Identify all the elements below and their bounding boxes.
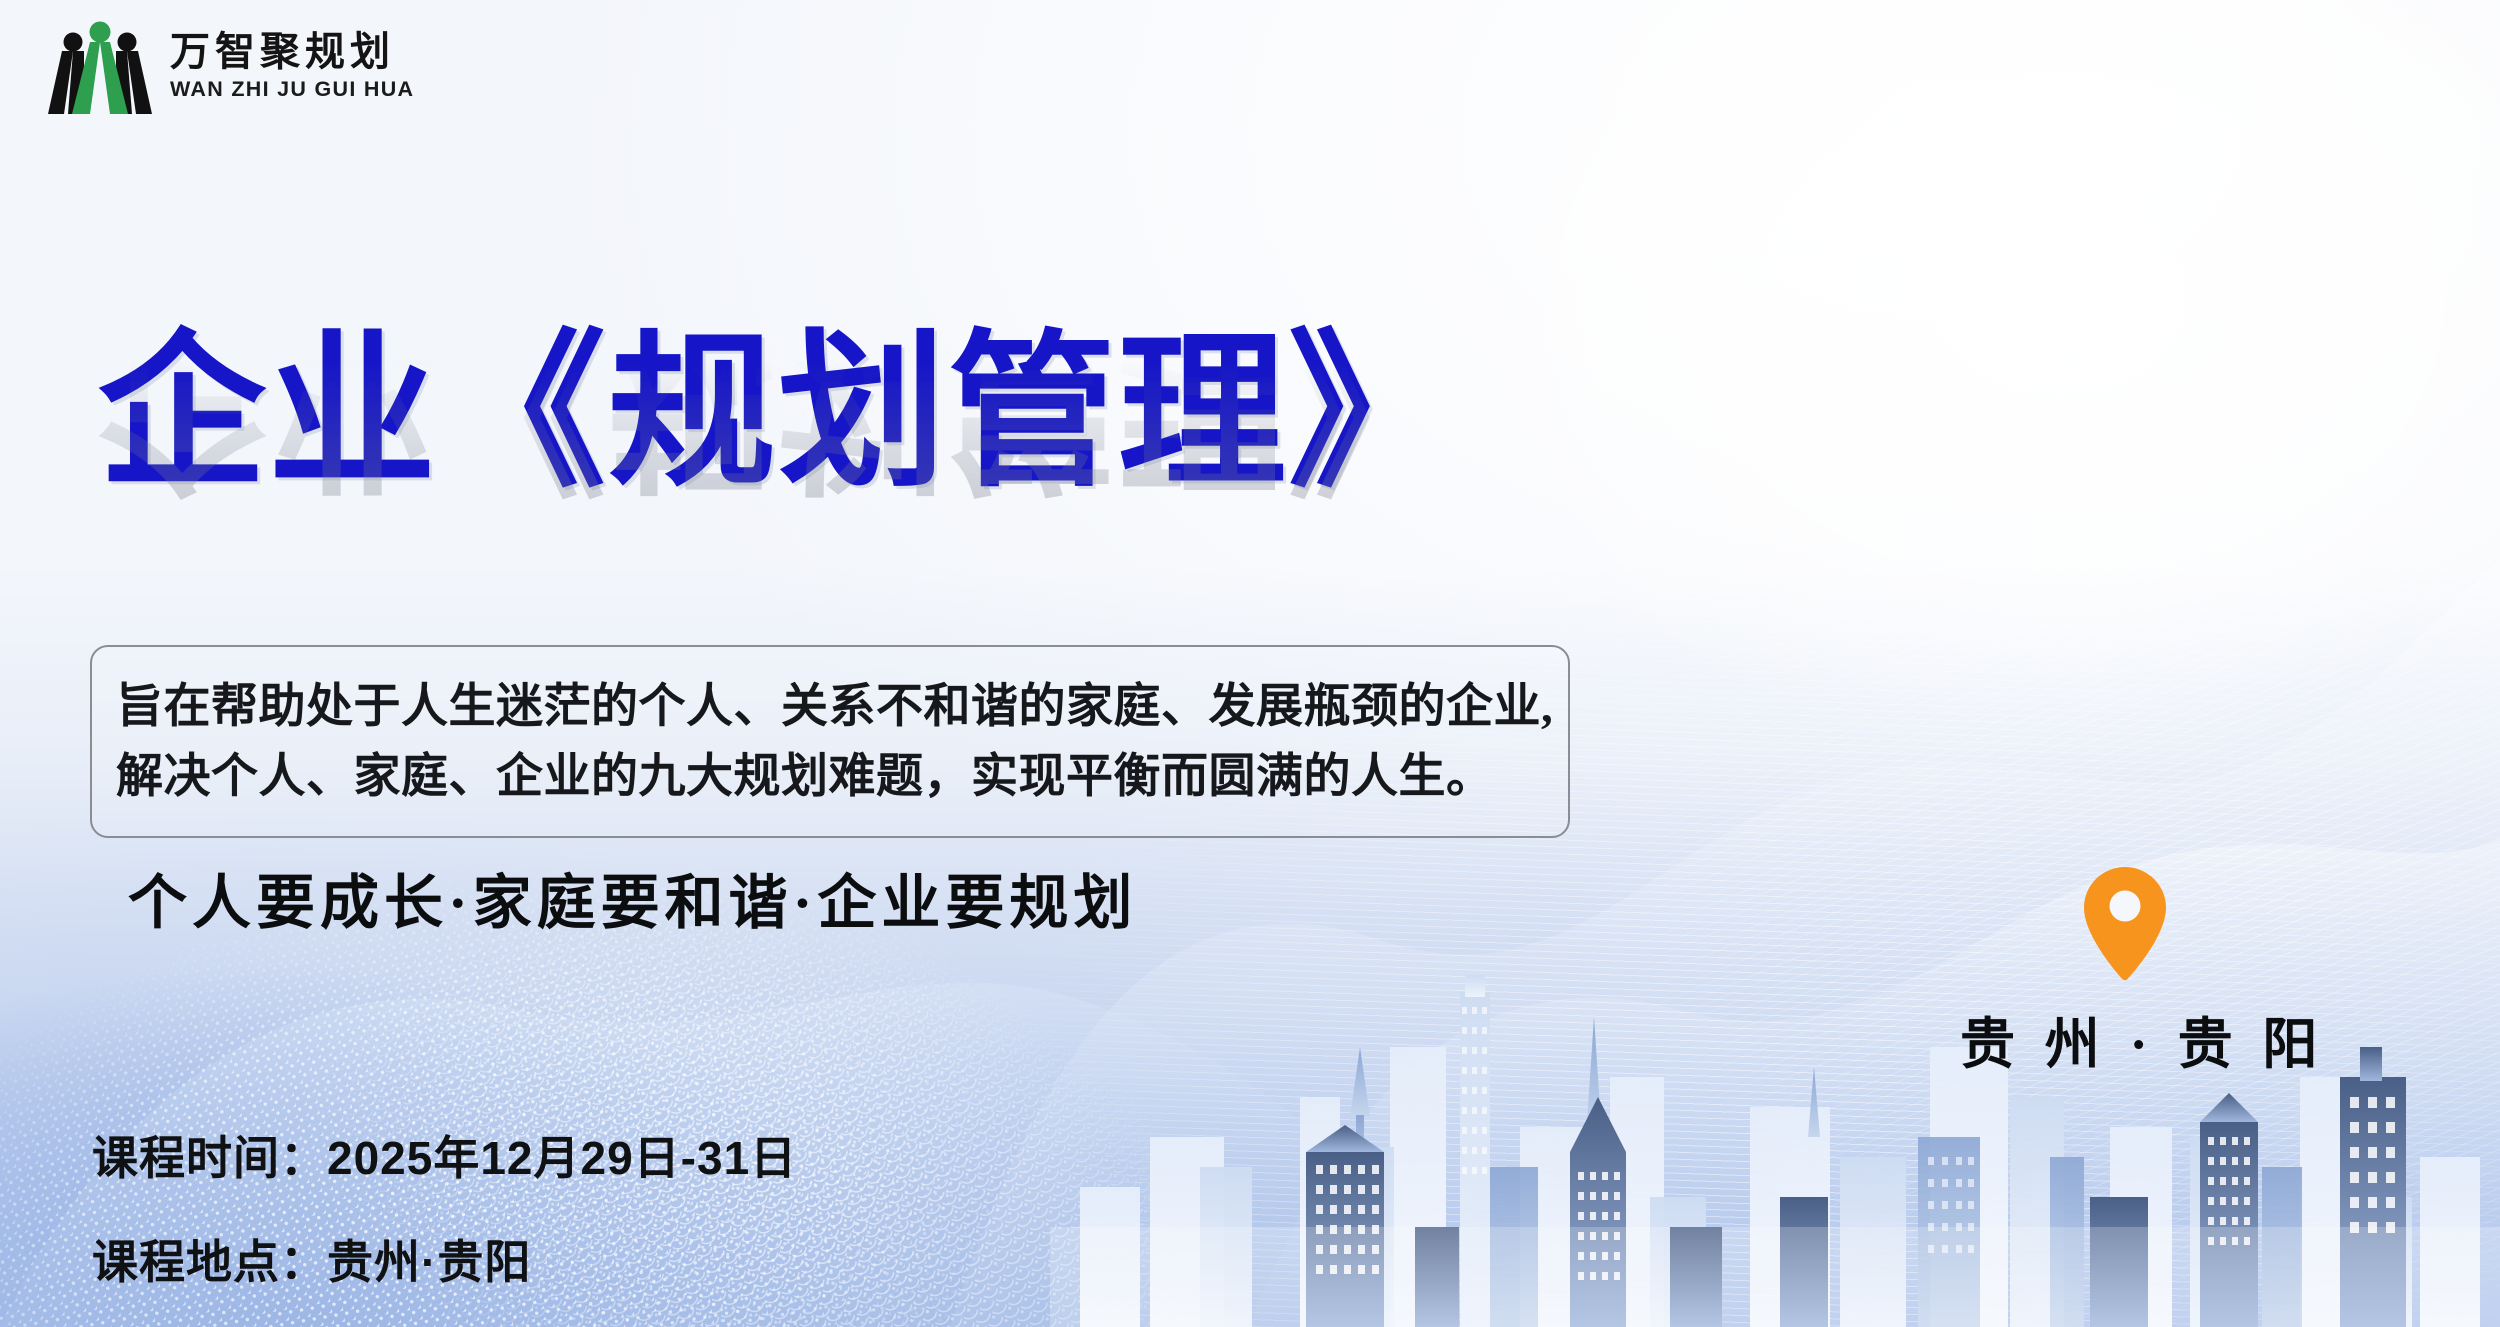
page-title-reflection: 企业《规划管理》	[98, 341, 1458, 506]
poster-canvas: 万智聚规划 WAN ZHI JU GUI HUA 企业《规划管理》 企业《规划管…	[0, 0, 2500, 1327]
brand-logo[interactable]: 万智聚规划 WAN ZHI JU GUI HUA	[46, 18, 414, 114]
three-people-mountain-logo-icon	[46, 18, 154, 114]
description-box: 旨在帮助处于人生迷茫的个人、关系不和谐的家庭、发展瓶颈的企业, 解决个人、家庭、…	[90, 645, 1570, 838]
brand-name-cn: 万智聚规划	[170, 32, 414, 72]
brand-name-pinyin: WAN ZHI JU GUI HUA	[170, 79, 414, 101]
course-info-block: 课程时间：2025年12月29日-31日 课程地点：贵州·贵阳	[92, 1122, 797, 1292]
hero-title-block: 企业《规划管理》 企业《规划管理》	[98, 318, 1458, 671]
map-pin-icon	[2081, 865, 2169, 983]
description-line-2: 解决个人、家庭、企业的九大规划难题，实现平衡而圆满的人生。	[116, 743, 1544, 813]
location-block: 贵 州 · 贵 阳	[1960, 865, 2290, 1079]
description-line-1: 旨在帮助处于人生迷茫的个人、关系不和谐的家庭、发展瓶颈的企业,	[116, 673, 1544, 743]
location-label: 贵 州 · 贵 阳	[1960, 999, 2290, 1079]
course-place: 课程地点：贵州·贵阳	[92, 1226, 797, 1292]
slogan-text: 个人要成长·家庭要和谐·企业要规划	[128, 855, 1137, 940]
brand-logo-text: 万智聚规划 WAN ZHI JU GUI HUA	[170, 32, 414, 101]
course-time: 课程时间：2025年12月29日-31日	[92, 1122, 797, 1188]
